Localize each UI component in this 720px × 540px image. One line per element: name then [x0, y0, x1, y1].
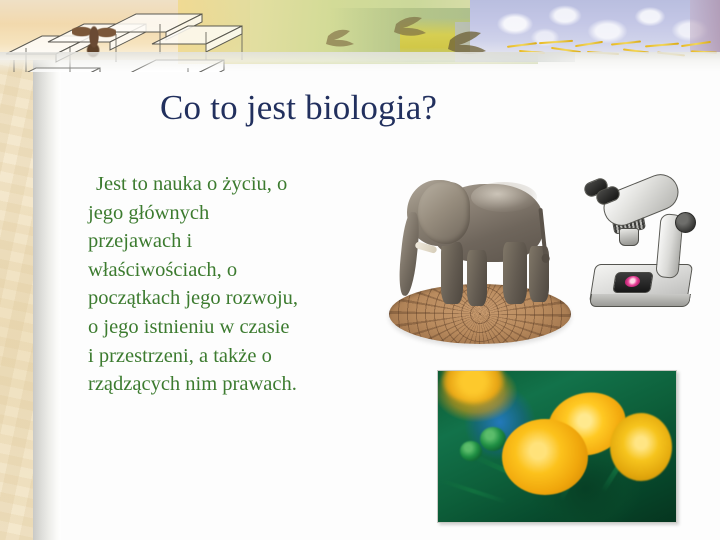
- slide-body-text: Jest to nauka o życiu, o jego głównych p…: [88, 170, 388, 399]
- body-line: o jego istnieniu w czasie: [88, 313, 388, 342]
- elephant-photo: [385, 168, 580, 348]
- body-line: początkach jego rozwoju,: [88, 284, 388, 313]
- flower-corner-blur: [442, 370, 504, 403]
- body-line: właściwościach, o: [88, 256, 388, 285]
- flower-stem: [439, 478, 507, 503]
- presentation-slide: Co to jest biologia? Jest to nauka o życ…: [0, 0, 720, 540]
- body-line: przejawach i: [88, 227, 388, 256]
- slide-header-banner: [0, 0, 720, 72]
- flower-bud: [460, 441, 482, 461]
- banner-base-fade: [0, 52, 720, 72]
- flower-photo: [437, 370, 677, 523]
- left-gray-fade-strip: [33, 0, 61, 540]
- microscope-base-front: [589, 294, 691, 307]
- microscope-photo: [576, 172, 708, 320]
- flower-blossom: [610, 413, 672, 481]
- microscope-focus-knob: [675, 212, 696, 233]
- left-parchment-strip: [0, 0, 33, 540]
- body-line: jego głównych: [88, 199, 388, 228]
- microscope-objective-lens: [619, 228, 639, 246]
- flower-blossom: [502, 419, 588, 495]
- elephant-ear: [418, 182, 470, 244]
- elephant-leg: [503, 242, 527, 304]
- elephant-leg: [467, 250, 487, 306]
- body-line: Jest to nauka o życiu, o: [88, 170, 388, 199]
- body-line: rządzących nim prawach.: [88, 370, 388, 399]
- elephant-leg: [441, 242, 463, 304]
- slide-title: Co to jest biologia?: [160, 88, 580, 127]
- flower-bud: [480, 427, 506, 451]
- elephant-trunk: [397, 211, 422, 296]
- body-line: i przestrzeni, a także o: [88, 342, 388, 371]
- elephant-back-highlight: [471, 182, 537, 212]
